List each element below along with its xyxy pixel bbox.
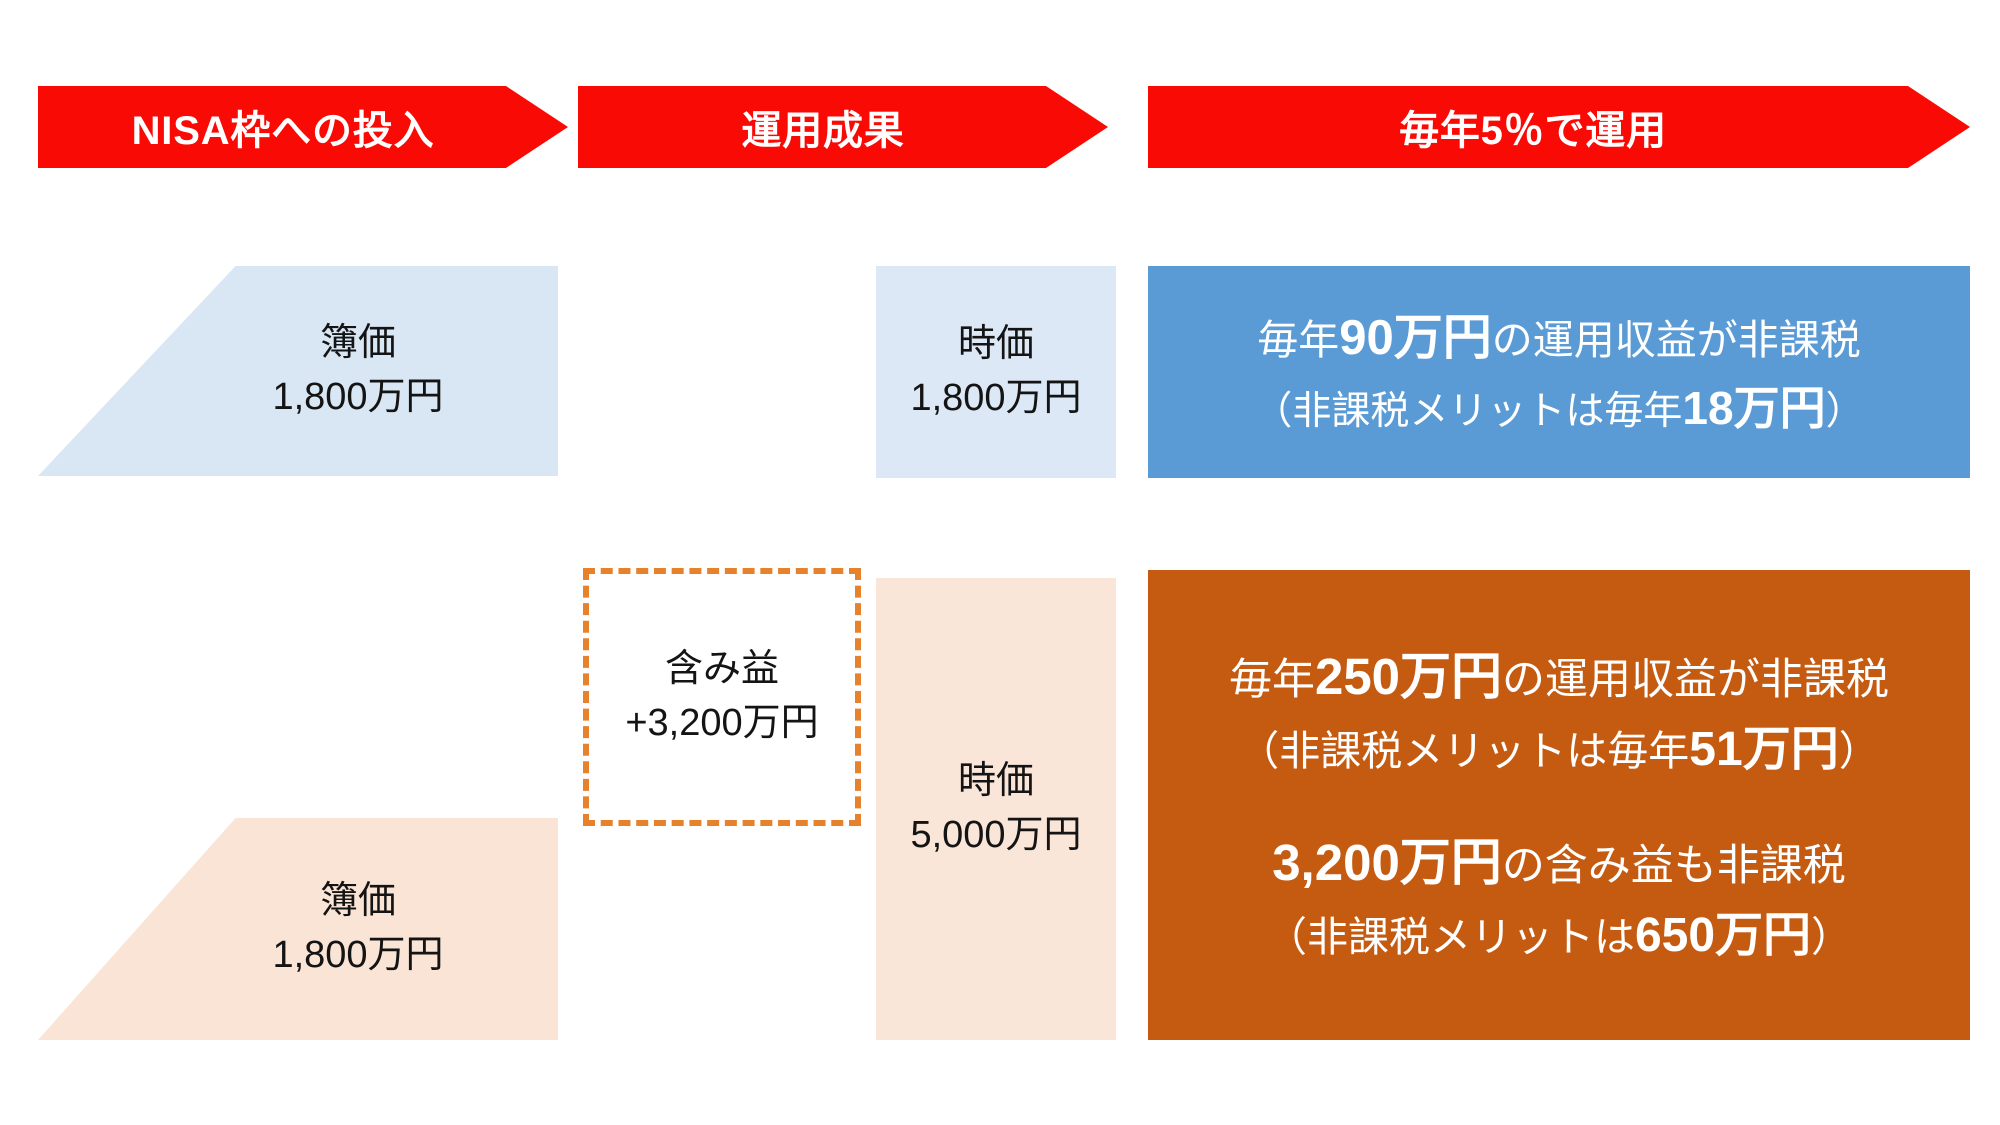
row1-benefit-group: 毎年90万円の運用収益が非課税 （非課税メリットは毎年18万円） [1253,302,1864,443]
text-prefix: （非課税メリットは毎年 [1238,728,1689,774]
row1-benefit-line-1: 毎年90万円の運用収益が非課税 [1253,302,1864,375]
row2-capital-gain-tax-saving-amount: 650万円 [1635,909,1811,962]
row1-market-value-title: 時価 [958,318,1034,372]
text-suffix: ） [1826,390,1865,433]
stage-header-contribution: NISA枠への投入 [38,86,568,168]
row2-benefit-line-3: 3,200万円の含み益も非課税 [1266,825,1852,900]
stage-header-label: 毎年5％で運用 [1399,98,1667,156]
text-prefix: （非課税メリットは [1266,914,1635,960]
row1-market-value-amount: 1,800万円 [910,372,1081,426]
stage-header-performance: 運用成果 [578,86,1108,168]
infographic-canvas: NISA枠への投入 運用成果 毎年5％で運用 簿価 1,800万円 時価 1,8… [0,0,2000,1125]
row1-book-value-shape: 簿価 1,800万円 [38,266,558,476]
stage-header-five-percent-growth: 毎年5％で運用 [1148,86,1970,168]
row2-income-tax-saving-amount: 51万円 [1689,723,1838,776]
row2-benefit-line-2: （非課税メリットは毎年51万円） [1229,714,1889,785]
row2-unrealised-gain-amount: +3,200万円 [625,697,818,751]
text-prefix: （非課税メリットは毎年 [1253,390,1682,433]
stage-header-label: NISA枠への投入 [132,98,435,156]
row2-unrealised-gain-title: 含み益 [665,643,779,697]
row2-benefit-group-capital-gain: 3,200万円の含み益も非課税 （非課税メリットは650万円） [1266,825,1852,972]
row2-book-value-shape: 簿価 1,800万円 [38,818,558,1040]
text-prefix: 毎年 [1229,656,1315,704]
row1-tax-saving-amount: 18万円 [1682,382,1825,434]
row1-book-value-title: 簿価 [320,317,396,371]
text-suffix: の運用収益が非課税 [1502,656,1889,704]
row2-benefit-panel: 毎年250万円の運用収益が非課税 （非課税メリットは毎年51万円） 3,200万… [1148,570,1970,1040]
row2-book-value-title: 簿価 [320,875,396,929]
row2-market-value-box: 時価 5,000万円 [876,578,1116,1040]
text-suffix: の含み益も非課税 [1502,842,1846,890]
row2-capital-gain-amount: 3,200万円 [1272,834,1502,891]
row2-benefit-group-income: 毎年250万円の運用収益が非課税 （非課税メリットは毎年51万円） [1229,639,1889,786]
row1-benefit-line-2: （非課税メリットは毎年18万円） [1253,374,1864,442]
stage-header-label: 運用成果 [741,98,904,156]
row2-benefit-line-1: 毎年250万円の運用収益が非課税 [1229,639,1889,714]
row2-unrealised-gain-box: 含み益 +3,200万円 [583,568,861,826]
row2-market-value-title: 時価 [958,755,1034,809]
text-prefix: 毎年 [1257,317,1339,363]
text-suffix: の運用収益が非課税 [1492,317,1861,363]
row1-book-value-amount: 1,800万円 [272,371,443,425]
row2-annual-income-amount: 250万円 [1315,648,1502,705]
row1-annual-income-amount: 90万円 [1339,311,1492,365]
text-suffix: ） [1811,914,1852,960]
row2-market-value-amount: 5,000万円 [910,809,1081,863]
row2-book-value-amount: 1,800万円 [272,929,443,983]
row1-benefit-panel: 毎年90万円の運用収益が非課税 （非課税メリットは毎年18万円） [1148,266,1970,478]
text-suffix: ） [1839,728,1880,774]
row1-market-value-box: 時価 1,800万円 [876,266,1116,478]
row2-benefit-line-4: （非課税メリットは650万円） [1266,900,1852,971]
